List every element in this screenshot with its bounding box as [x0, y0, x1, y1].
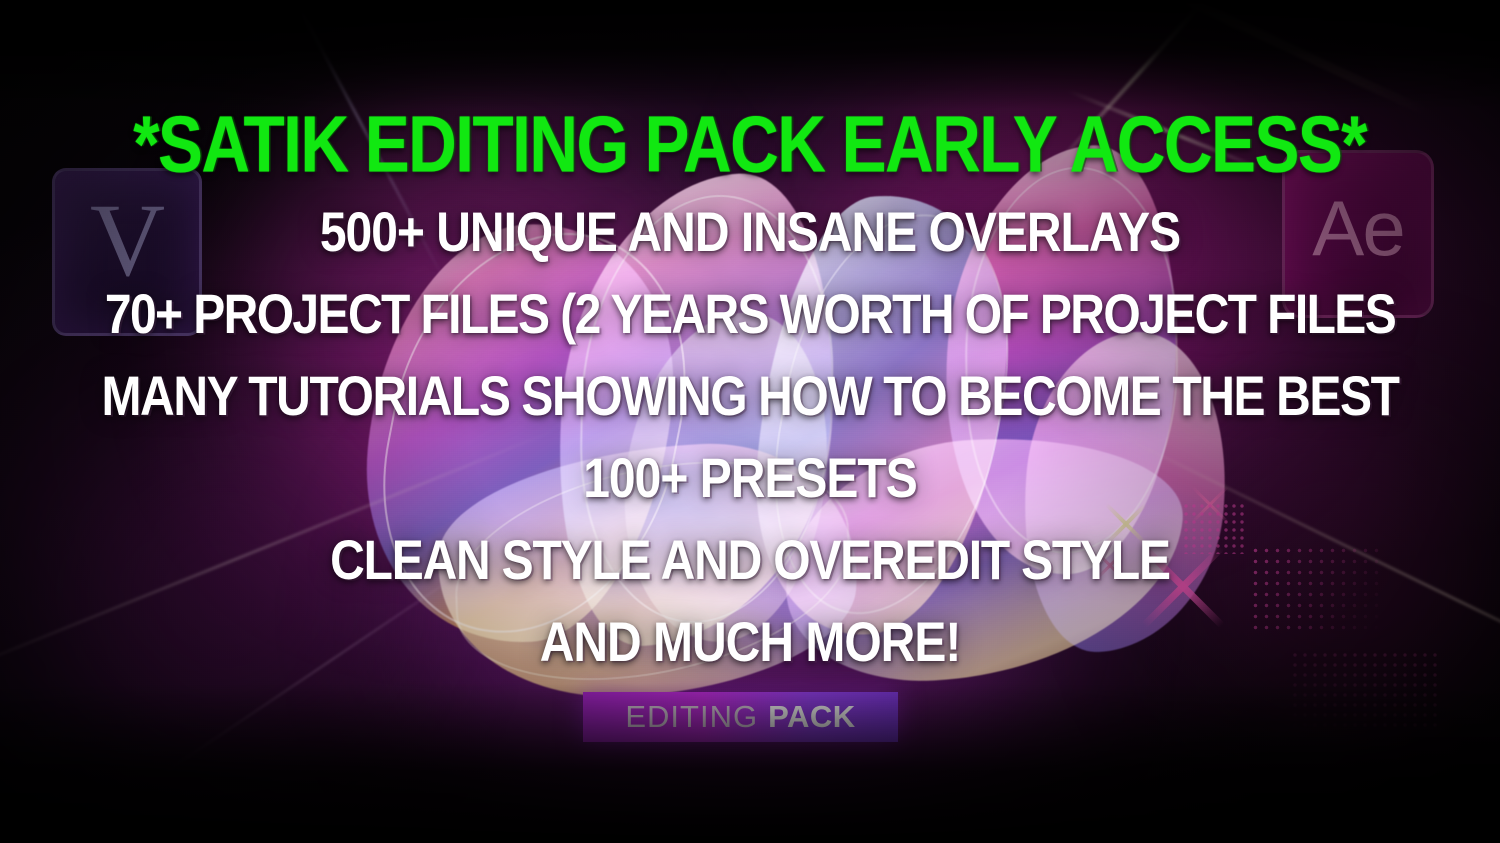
feature-line: CLEAN STYLE AND OVEREDIT STYLE [330, 534, 1170, 590]
feature-line: 70+ PROJECT FILES (2 YEARS WORTH OF PROJ… [105, 288, 1395, 344]
feature-line: AND MUCH MORE! [540, 616, 961, 672]
feature-line: 500+ UNIQUE AND INSANE OVERLAYS [320, 206, 1180, 262]
feature-list: 500+ UNIQUE AND INSANE OVERLAYS 70+ PROJ… [0, 206, 1500, 664]
feature-line: 100+ PRESETS [583, 452, 917, 508]
promo-copy-stack: *SATIK EDITING PACK EARLY ACCESS* 500+ U… [0, 0, 1500, 843]
feature-line: MANY TUTORIALS SHOWING HOW TO BECOME THE… [101, 370, 1398, 426]
promo-graphic: V Ae EDITING PACK *SATIK EDITING PACK EA… [0, 0, 1500, 843]
promo-headline: *SATIK EDITING PACK EARLY ACCESS* [134, 104, 1367, 184]
